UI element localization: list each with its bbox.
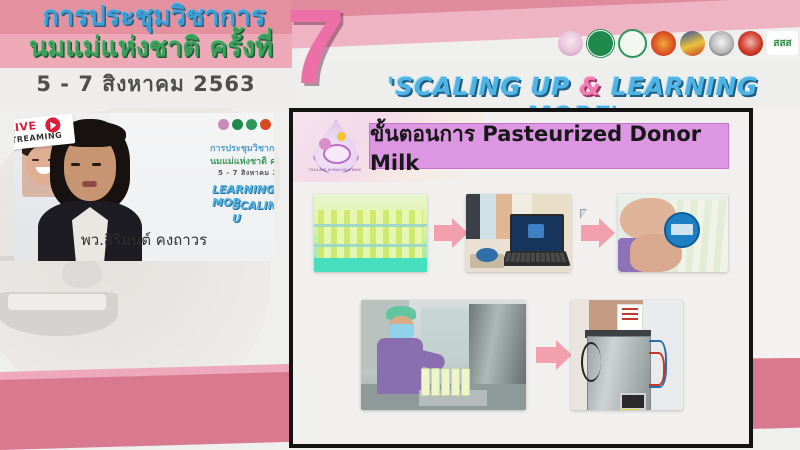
- speaker-eye-left: [71, 163, 80, 166]
- speaker-eye-right: [92, 163, 101, 166]
- milk-bottle: [451, 368, 460, 396]
- donor-milk-bottles-rack-photo: [314, 194, 427, 272]
- mouse-cursor: [580, 209, 588, 220]
- royal-emblem-logo: [680, 31, 705, 56]
- backdrop-title-line1: การประชุมวิชาการ: [210, 141, 274, 155]
- backdrop-date: 5 - 7 สิงหาคม 2563: [218, 168, 274, 179]
- milk-bottle: [441, 368, 450, 396]
- rack-shelf-1: [314, 224, 427, 227]
- edition-number: 7: [286, 0, 345, 100]
- slogan-part1: 'SCALING UP: [387, 72, 579, 101]
- surgical-mask-icon: [389, 324, 414, 338]
- conference-title-line2: นมแม่แห่งชาติ ครั้งที่: [10, 32, 292, 64]
- backdrop-logo-2: [232, 119, 243, 130]
- milk-bottle: [461, 368, 470, 396]
- laptop-screen: [510, 214, 564, 254]
- child-eye-left: [32, 159, 39, 161]
- power-cord: [581, 342, 601, 382]
- mother-icon: [319, 138, 331, 150]
- sign-line: [622, 318, 638, 320]
- hand-holding-digital-timer-photo: [618, 194, 728, 272]
- royal-college-logo: [651, 31, 676, 56]
- slide-title-box: ขั้นตอนการ Pasteurized Donor Milk: [369, 123, 729, 169]
- backdrop-logo-strip: [218, 118, 274, 131]
- backdrop-logo-3: [246, 119, 257, 130]
- conference-date: 5 - 7 สิงหาคม 2563: [10, 68, 282, 101]
- backdrop-logo-1: [218, 119, 229, 130]
- timer-display: [671, 224, 693, 235]
- royal-crest-logo: [738, 31, 763, 56]
- machine-label: [620, 409, 640, 410]
- step-arrow-3: [536, 347, 558, 363]
- logo-caption: THAILAND HUMAN MILK BANK: [305, 168, 365, 172]
- thai-breastfeeding-foundation-logo: [558, 31, 583, 56]
- rack-base: [314, 258, 427, 272]
- pasteurizer-machine-photo: [571, 300, 683, 410]
- backdrop-title-line2: นมแม่แห่งชาติ ครั้งที่: [210, 154, 274, 168]
- speaker-mouth: [82, 181, 97, 187]
- ministry-of-public-health-logo: [587, 30, 614, 57]
- machine-display: [620, 393, 646, 410]
- sign-line: [622, 313, 638, 315]
- university-seal-logo: [709, 31, 734, 56]
- conference-slogan: 'SCALING UP & LEARNING MORE': [350, 72, 795, 108]
- keyboard-keys: [505, 253, 567, 262]
- laptop-keyboard: [501, 251, 570, 266]
- slogan-ampersand: &: [579, 72, 601, 101]
- speaker-name: พว.สิริมนต์ คงถาวร: [14, 228, 274, 252]
- screen-window-icon: [528, 224, 544, 238]
- human-milk-bank-logo: THAILAND HUMAN MILK BANK: [307, 118, 363, 180]
- backdrop-slogan-line2: SCALING U: [232, 199, 274, 225]
- nurse-handling-milk-bottles-photo: [361, 300, 526, 410]
- milk-drop-highlight: [337, 132, 346, 141]
- milk-bottle: [421, 368, 430, 396]
- conference-header: การประชุมวิชาการ นมแม่แห่งชาติ ครั้งที่ …: [0, 0, 800, 108]
- nurse-scrubs: [377, 338, 423, 394]
- screen: การประชุมวิชาการ นมแม่แห่งชาติ ครั้งที่ …: [0, 0, 800, 450]
- laptop-data-recording-photo: [466, 194, 571, 272]
- watermark-teeth: [8, 294, 106, 310]
- sign-line: [622, 308, 638, 310]
- backdrop-logo-4: [260, 119, 271, 130]
- step-arrow-1: [434, 225, 454, 241]
- red-hose: [649, 352, 665, 386]
- slide-right-margin: [745, 108, 800, 358]
- watermark-nose: [62, 258, 102, 288]
- milk-bottles-rows: [318, 210, 423, 260]
- slide-title-text: ขั้นตอนการ Pasteurized Donor Milk: [370, 118, 728, 175]
- rack-shelf-2: [314, 244, 427, 247]
- conference-title-line1: การประชุมวิชาการ: [18, 1, 290, 33]
- computer-mouse: [476, 248, 498, 262]
- step-arrow-2: [581, 225, 601, 241]
- milk-bottle: [431, 368, 440, 396]
- presentation-slide[interactable]: THAILAND HUMAN MILK BANK ขั้นตอนการ Past…: [289, 108, 753, 448]
- thaihealth-logo: สสส: [767, 31, 798, 55]
- organization-logos: สสส: [558, 26, 798, 60]
- department-of-health-logo: [618, 29, 647, 58]
- digital-timer-icon: [664, 212, 700, 248]
